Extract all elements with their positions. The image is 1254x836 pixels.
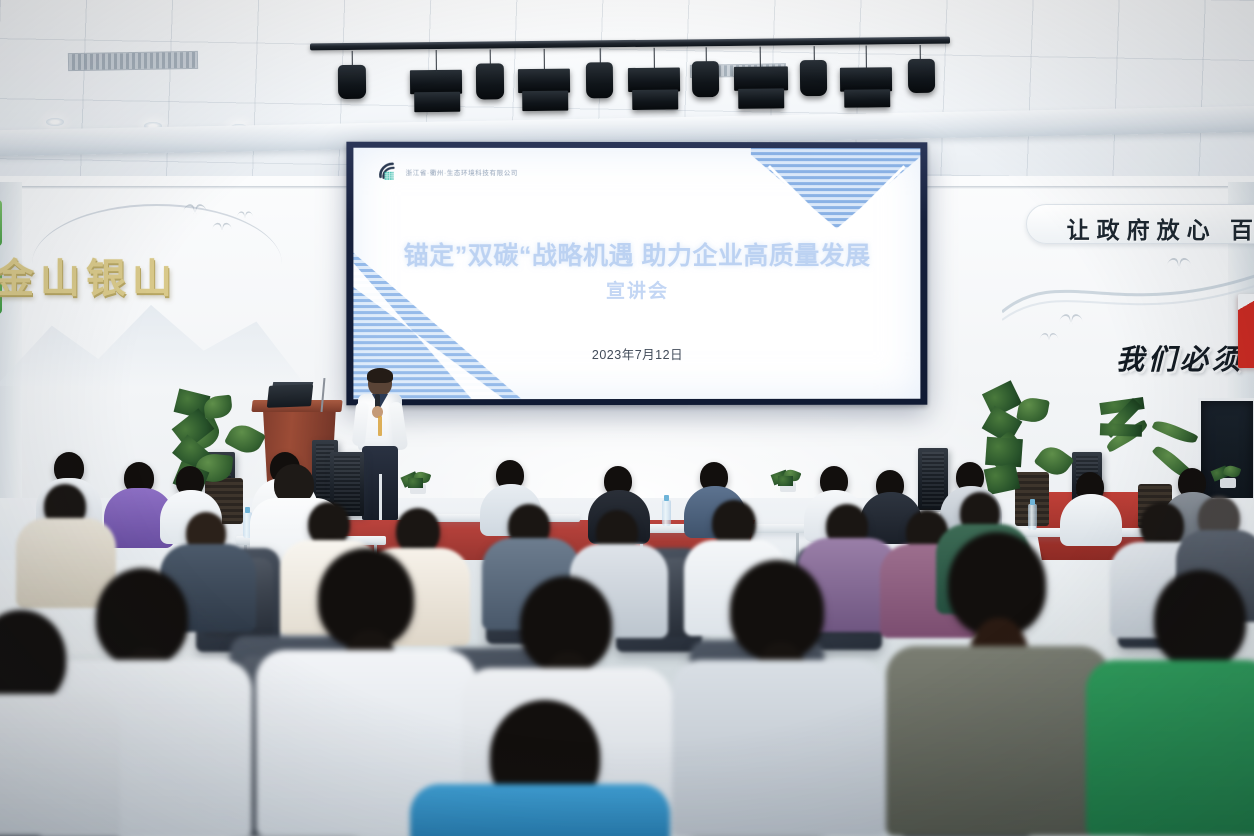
bird-icon <box>237 211 252 217</box>
audience-head <box>1154 570 1246 668</box>
audience-body <box>1060 494 1122 546</box>
audience-body <box>886 646 1110 836</box>
stage-light-fresnel-icon <box>840 67 892 92</box>
ceiling-vent-icon <box>68 51 198 71</box>
audience-body <box>672 660 886 836</box>
wall-slogan-bottom: 我们必须 <box>1116 338 1244 378</box>
stage-light-par-icon <box>800 60 827 96</box>
slide-logo: 浙江省·衢州·生态环境科技有限公司 <box>378 162 518 182</box>
stage-light-fresnel-icon <box>628 67 680 92</box>
slide-date: 2023年7月12日 <box>353 344 920 363</box>
stage-light-par-icon <box>476 63 504 99</box>
bird-icon <box>184 204 206 213</box>
conference-hall-photo: 金山银山 让政府放心 百 我们必须 <box>0 0 1254 836</box>
stage-light-rig <box>310 37 951 124</box>
stage-light-fresnel-icon <box>632 89 678 109</box>
stage-light-fresnel-icon <box>738 88 784 108</box>
chevron-outline-icon <box>767 164 907 238</box>
slide-title: 锚定”双碳“战略机遇 助力企业高质量发展 <box>353 236 920 272</box>
downlight-icon <box>46 118 64 126</box>
presenter-hair <box>367 368 393 383</box>
stage-light-fresnel-icon <box>518 69 570 94</box>
audience-body <box>410 784 670 836</box>
green-accent-tab <box>0 200 2 246</box>
tabletop-plant <box>770 470 804 492</box>
slide-subtitle: 宣讲会 <box>353 276 920 303</box>
stage-light-fresnel-icon <box>414 92 460 112</box>
stage-light-par-icon <box>338 65 366 99</box>
bird-icon <box>1167 258 1190 267</box>
stage-light-fresnel-icon <box>410 70 462 95</box>
stage-light-par-icon <box>586 62 613 98</box>
projection-screen[interactable]: 浙江省·衢州·生态环境科技有限公司 锚定”双碳“战略机遇 助力企业高质量发展 宣… <box>346 142 927 406</box>
tabletop-plant <box>1212 466 1246 488</box>
podium-laptop-base <box>267 384 314 408</box>
stage-light-fresnel-icon <box>734 66 788 91</box>
stage-light-par-icon <box>692 61 719 97</box>
stage-light-fresnel-icon <box>844 89 890 107</box>
wall-gold-text: 金山银山 <box>0 246 178 304</box>
water-bottle <box>662 500 671 526</box>
bird-icon <box>1040 333 1058 340</box>
water-bottle <box>1028 504 1037 530</box>
presentation-slide: 浙江省·衢州·生态环境科技有限公司 锚定”双碳“战略机遇 助力企业高质量发展 宣… <box>353 148 920 400</box>
audience-body <box>0 694 120 836</box>
presenter-leg-gap <box>379 474 382 520</box>
slide-logo-text: 浙江省·衢州·生态环境科技有限公司 <box>406 167 518 177</box>
stage-light-par-icon <box>908 59 935 93</box>
stage-light-fresnel-icon <box>522 91 568 111</box>
wave-decoration <box>1002 256 1254 336</box>
audience-body <box>1086 660 1254 836</box>
presenter-lanyard <box>378 416 382 436</box>
bird-icon <box>1060 314 1082 323</box>
red-banner <box>1238 294 1254 368</box>
tabletop-plant <box>400 472 434 494</box>
company-logo-icon <box>378 162 400 182</box>
speaker-grill <box>922 452 944 506</box>
bird-icon <box>213 223 232 231</box>
wall-slogan-top: 让政府放心 百 <box>1067 211 1254 245</box>
